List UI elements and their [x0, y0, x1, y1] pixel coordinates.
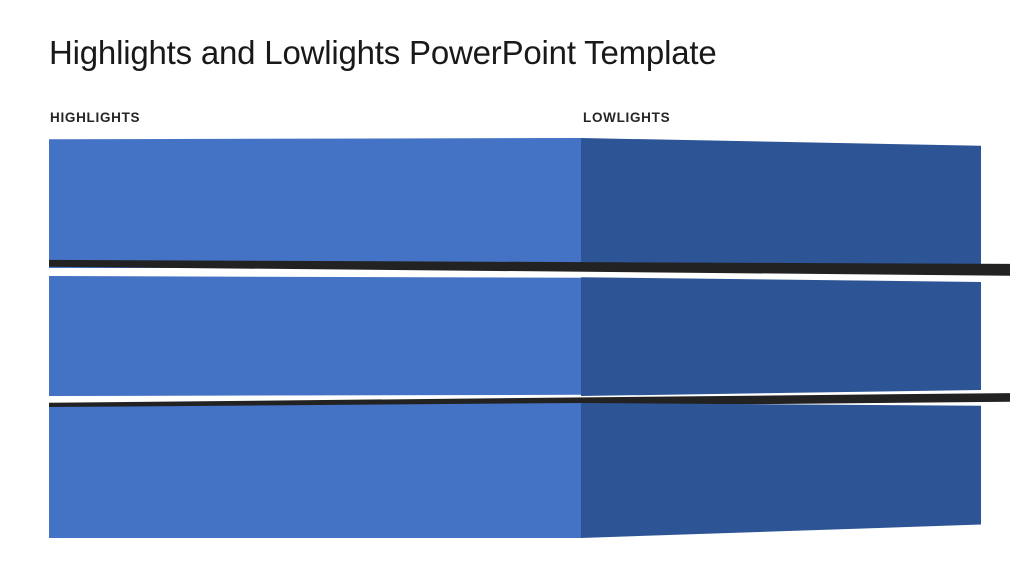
lowlight-panel-1[interactable] [581, 138, 981, 268]
lowlight-panel-3[interactable] [581, 403, 981, 538]
highlight-panel-1[interactable] [49, 138, 581, 268]
lowlight-panel-2[interactable] [581, 276, 981, 396]
content-row: This is a sample text. Insert your desir… [0, 138, 1024, 268]
column-header-highlights: HIGHLIGHTS [50, 110, 140, 125]
content-row: This is a sample text. Insert your desir… [0, 403, 1024, 538]
page-title: Highlights and Lowlights PowerPoint Temp… [49, 33, 949, 73]
column-header-lowlights: LOWLIGHTS [583, 110, 670, 125]
content-row: This is a sample text. Insert your desir… [0, 276, 1024, 396]
slide-canvas: Highlights and Lowlights PowerPoint Temp… [0, 0, 1024, 576]
highlight-panel-2[interactable] [49, 276, 581, 396]
highlight-panel-3[interactable] [49, 403, 581, 538]
